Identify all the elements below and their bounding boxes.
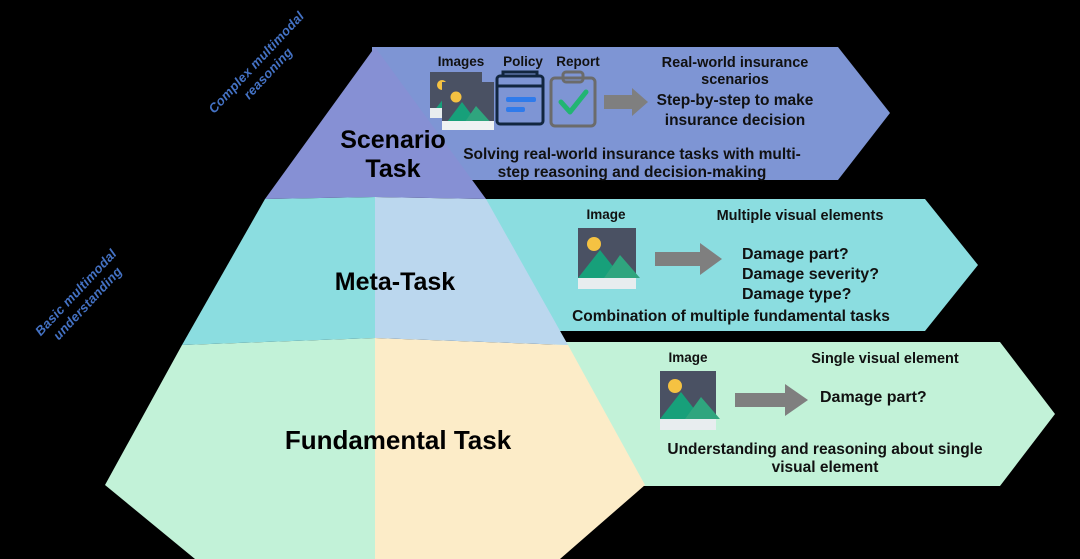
meta-question-3: Damage type? [742,285,962,305]
scenario-caption: Solving real-world insurance tasks with … [452,146,812,183]
pyramid-label-meta-task: Meta-Task [300,268,490,297]
meta-question-1: Damage part? [742,245,962,265]
scenario-icon-label-policy: Policy [497,55,549,69]
meta-arrow-right-icon [655,243,722,275]
scenario-icon-label-images: Images [432,55,490,69]
meta-caption-line1: Combination of multiple fundamental task… [556,308,906,326]
images-icon [430,72,494,130]
pyramid-label-scenario-line1: Scenario [318,126,468,155]
pyramid-label-meta-line1: Meta-Task [300,268,490,297]
fundamental-caption: Understanding and reasoning about single… [660,441,990,478]
pyramid-label-scenario-line2: Task [318,155,468,184]
meta-icon-label-image: Image [578,208,634,222]
scenario-icon-label-report: Report [550,55,606,69]
fundamental-question-list: Damage part? [820,388,1020,408]
meta-question-list: Damage part? Damage severity? Damage typ… [742,245,962,305]
meta-question-2: Damage severity? [742,265,962,285]
scenario-output-line4: insurance decision [632,112,838,131]
scenario-output-line1: Real-world insurance [632,55,838,72]
fundamental-caption-line1: Understanding and reasoning about single [660,441,990,459]
scenario-output-line2: scenarios [632,72,838,89]
policy-document-lines [506,97,536,112]
scenario-caption-line2: step reasoning and decision-making [452,164,812,182]
report-clipboard-check-icon [551,72,595,126]
fundamental-icon-label-image: Image [660,351,716,365]
fundamental-image-icon [660,371,720,430]
meta-heading: Multiple visual elements [700,208,900,225]
fundamental-caption-line2: visual element [660,459,990,477]
fundamental-heading: Single visual element [790,351,980,368]
fundamental-question-1: Damage part? [820,388,1020,408]
figure-canvas: Complex multimodal reasoning Basic multi… [0,0,1080,559]
scenario-caption-line1: Solving real-world insurance tasks with … [452,146,812,164]
meta-image-icon [578,228,640,289]
meta-caption: Combination of multiple fundamental task… [556,308,906,326]
pyramid-label-fundamental-line1: Fundamental Task [248,426,548,456]
fundamental-arrow-right-icon [735,384,808,416]
scenario-output-line3: Step-by-step to make [632,92,838,111]
scenario-output-text: Real-world insurance scenarios Step-by-s… [632,55,838,131]
pyramid-label-scenario-task: Scenario Task [318,126,468,184]
pyramid-label-fundamental-task: Fundamental Task [248,426,548,456]
